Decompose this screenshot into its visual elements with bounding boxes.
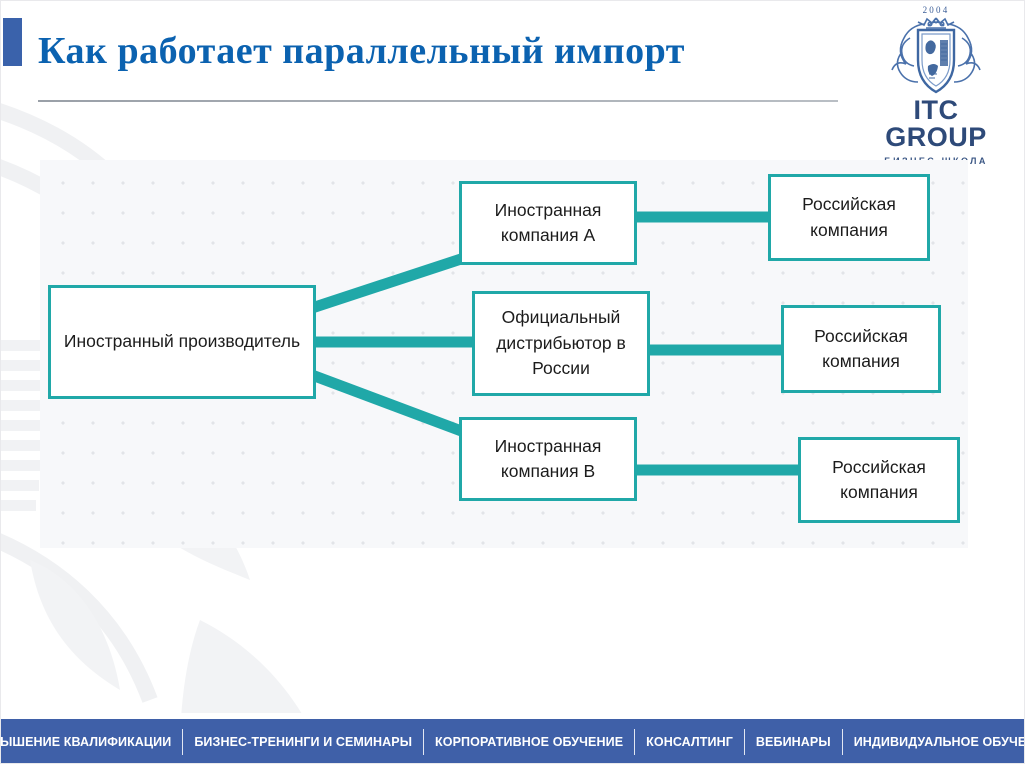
node-label: Российская компания <box>807 455 951 506</box>
logo-name: ITC GROUP <box>861 97 1011 151</box>
footer-item[interactable]: ВЕБИНАРЫ <box>745 727 842 757</box>
node-foreign-company-a[interactable]: Иностранная компания А <box>459 181 637 265</box>
footer-separator <box>744 729 745 755</box>
footer-items: ПОВЫШЕНИЕ КВАЛИФИКАЦИИБИЗНЕС-ТРЕНИНГИ И … <box>0 727 1025 757</box>
node-russian-company-2[interactable]: Российская компания <box>781 305 941 393</box>
node-russian-company-1[interactable]: Российская компания <box>768 174 930 261</box>
node-label: Иностранная компания В <box>468 434 628 485</box>
node-foreign-company-b[interactable]: Иностранная компания В <box>459 417 637 501</box>
slide: Как работает параллельный импорт 2004 <box>0 0 1025 764</box>
footer-item[interactable]: ИНДИВИДУАЛЬНОЕ ОБУЧЕНИЕ <box>843 727 1025 757</box>
footer-item[interactable]: ПОВЫШЕНИЕ КВАЛИФИКАЦИИ <box>0 727 182 757</box>
node-label: Иностранный производитель <box>64 329 300 354</box>
node-russian-company-3[interactable]: Российская компания <box>798 437 960 523</box>
node-foreign-producer[interactable]: Иностранный производитель <box>48 285 316 399</box>
node-label: Российская компания <box>790 324 932 375</box>
footer-separator <box>842 729 843 755</box>
edge-producer-foreign-a <box>312 258 464 308</box>
footer-item[interactable]: КОНСАЛТИНГ <box>635 727 744 757</box>
svg-text:2004: 2004 <box>923 5 950 15</box>
node-label: Официальный дистрибьютор в России <box>481 305 641 381</box>
footer-item[interactable]: КОРПОРАТИВНОЕ ОБУЧЕНИЕ <box>424 727 634 757</box>
edge-producer-foreign-b <box>312 375 464 432</box>
logo: 2004 <box>861 4 1011 132</box>
title-divider <box>38 100 838 102</box>
title-accent-bar <box>3 18 22 66</box>
footer-nav: ПОВЫШЕНИЕ КВАЛИФИКАЦИИБИЗНЕС-ТРЕНИНГИ И … <box>0 716 1025 764</box>
crest-icon: 2004 <box>884 4 988 96</box>
page-title: Как работает параллельный импорт <box>38 29 838 73</box>
node-label: Российская компания <box>777 192 921 243</box>
footer-separator <box>182 729 183 755</box>
footer-item[interactable]: БИЗНЕС-ТРЕНИНГИ И СЕМИНАРЫ <box>183 727 423 757</box>
node-label: Иностранная компания А <box>468 198 628 249</box>
diagram-panel: Иностранный производитель Иностранная ко… <box>40 160 968 548</box>
node-official-distributor[interactable]: Официальный дистрибьютор в России <box>472 291 650 396</box>
footer-separator <box>423 729 424 755</box>
footer-separator <box>634 729 635 755</box>
